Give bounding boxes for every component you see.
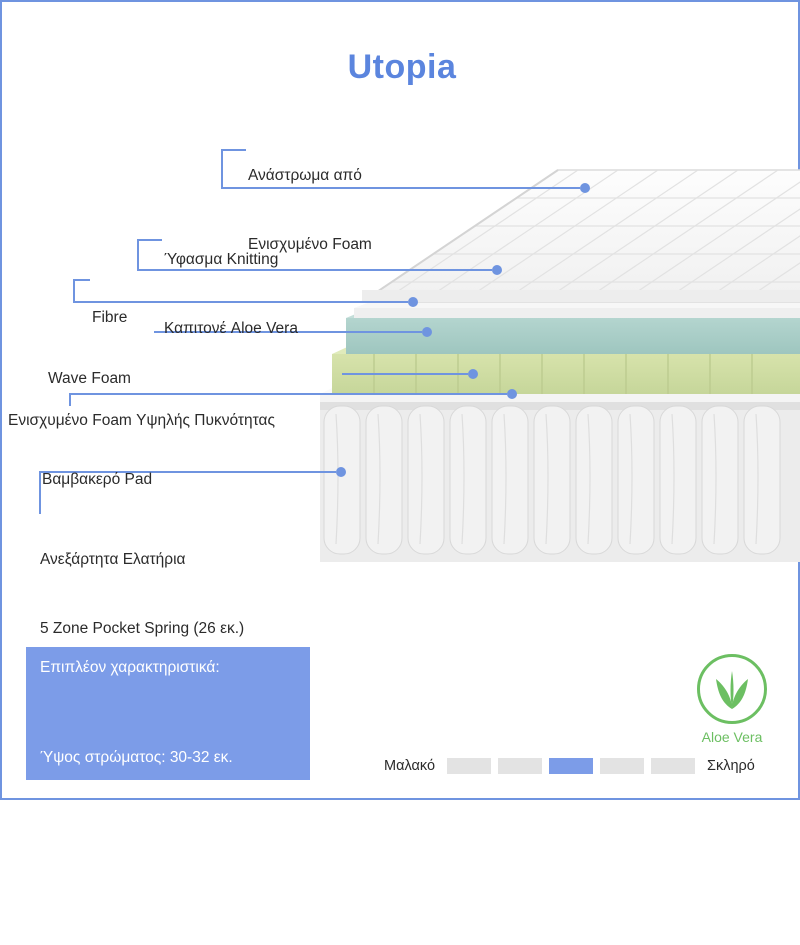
- firmness-hard-label: Σκληρό: [707, 758, 755, 774]
- page-title: Utopia: [2, 48, 800, 87]
- callout-knitting-fabric-line1: Ύφασμα Knitting: [164, 248, 298, 271]
- wave-foam-layer: [346, 298, 800, 354]
- fibre-layer: [354, 290, 800, 318]
- extra-features-list: Ύψος στρώματος: 30-32 εκ. Χειρολαβες: 6 …: [40, 703, 233, 945]
- firmness-step-2[interactable]: [498, 758, 542, 774]
- feature-item-sides: Μονής όψης: [40, 879, 233, 901]
- callout-pocket-springs-line1: Ανεξάρτητα Ελατήρια: [40, 548, 244, 571]
- aloe-badge-label: Aloe Vera: [690, 729, 774, 745]
- firmness-scale: Μαλακό Σκληρό: [384, 754, 782, 778]
- aloe-vera-badge: Aloe Vera: [690, 654, 774, 745]
- quilted-top-layer: [342, 170, 800, 302]
- callout-knitting-fabric-line2: Καπιτονέ Aloe Vera: [164, 317, 298, 340]
- feature-item-handles: Χειρολαβες: 6: [40, 813, 233, 835]
- callout-cotton-pad-line1: Βαμβακερό Pad: [42, 468, 152, 491]
- high-density-foam-layer: [332, 332, 800, 394]
- firmness-steps: [447, 758, 695, 774]
- firmness-soft-label: Μαλακό: [384, 758, 435, 774]
- firmness-step-3[interactable]: [549, 758, 593, 774]
- spring-layer: [320, 400, 800, 562]
- firmness-step-5[interactable]: [651, 758, 695, 774]
- mattress-infographic: Utopia: [0, 0, 800, 800]
- feature-item-height: Ύψος στρώματος: 30-32 εκ.: [40, 747, 233, 769]
- aloe-badge-ring: [697, 654, 767, 724]
- extra-features-box: Επιπλέον χαρακτηριστικά: Ύψος στρώματος:…: [26, 647, 310, 780]
- aloe-leaf-icon: [700, 657, 764, 721]
- firmness-step-1[interactable]: [447, 758, 491, 774]
- firmness-step-4[interactable]: [600, 758, 644, 774]
- extra-features-heading: Επιπλέον χαρακτηριστικά:: [40, 657, 220, 679]
- callout-topper-foam-line1: Ανάστρωμα από: [248, 164, 372, 187]
- callout-knitting-fabric: Ύφασμα Knitting Καπιτονέ Aloe Vera: [164, 202, 298, 386]
- callout-pocket-springs-line2: 5 Zone Pocket Spring (26 εκ.): [40, 617, 244, 640]
- cotton-pad-layer: [320, 370, 800, 402]
